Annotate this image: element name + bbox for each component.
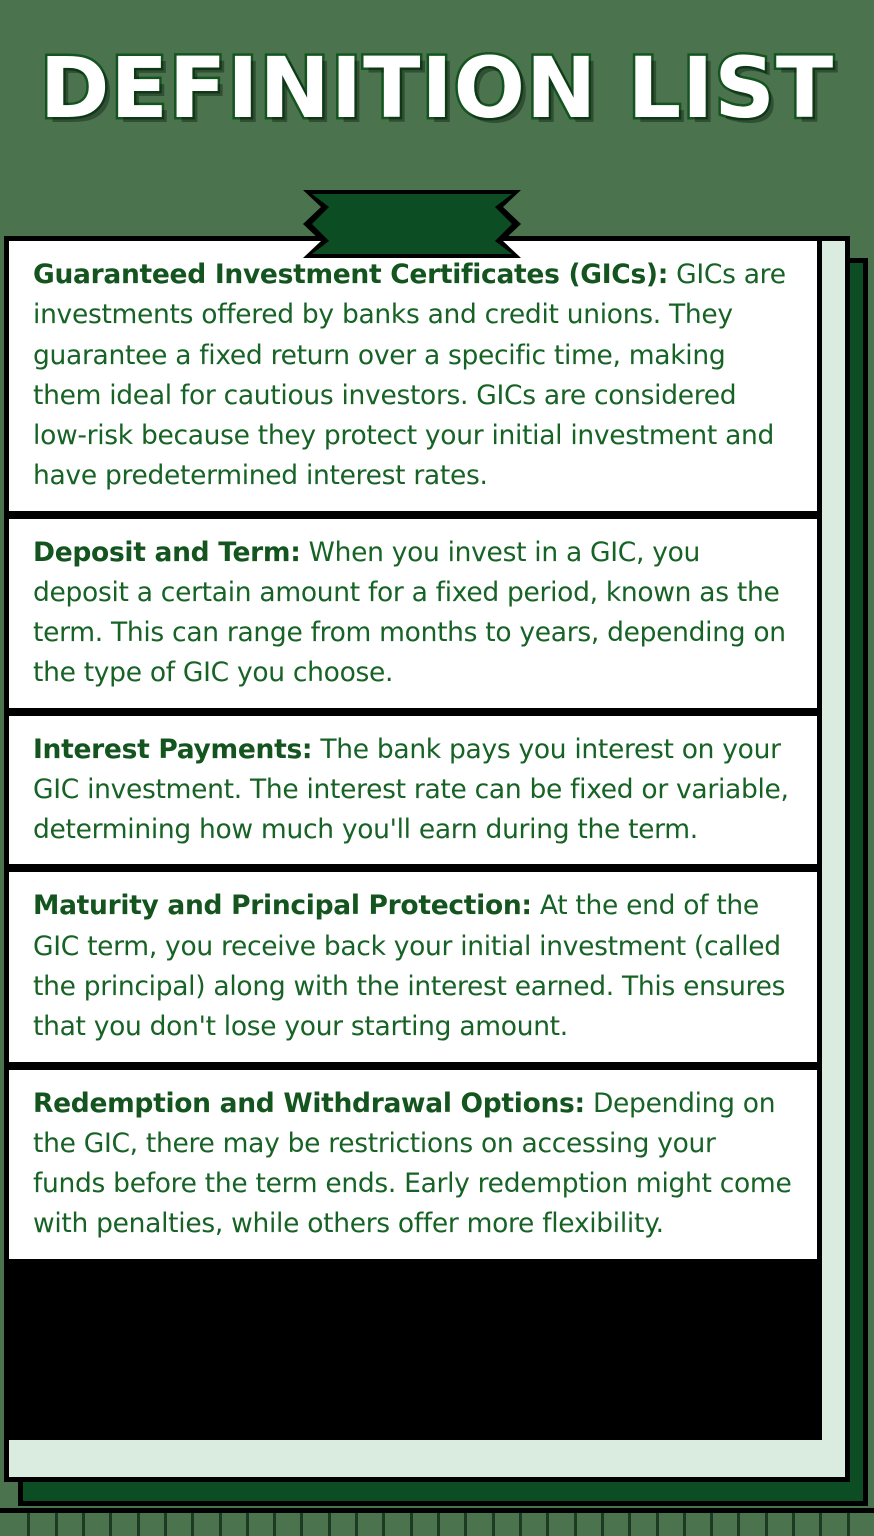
ruler-tick xyxy=(492,1513,495,1536)
definition-term: Maturity and Principal Protection: xyxy=(33,890,532,921)
ribbon-banner-icon xyxy=(303,190,521,258)
ruler-tick xyxy=(164,1513,167,1536)
title-banner: DEFINITION LIST xyxy=(0,0,874,176)
ruler-tick xyxy=(710,1513,713,1536)
ruler-tick xyxy=(328,1513,331,1536)
ruler-tick xyxy=(410,1513,413,1536)
definition-term: Interest Payments: xyxy=(33,734,312,765)
ruler-tick-strip xyxy=(0,1508,874,1536)
definition-text: Deposit and Term: When you invest in a G… xyxy=(33,533,795,694)
ruler-tick xyxy=(437,1513,440,1536)
ruler-tick xyxy=(55,1513,58,1536)
ruler-tick xyxy=(683,1513,686,1536)
ruler-tick xyxy=(382,1513,385,1536)
definition-term: Redemption and Withdrawal Options: xyxy=(33,1088,585,1119)
definition-text: Redemption and Withdrawal Options: Depen… xyxy=(33,1084,795,1245)
page-title: DEFINITION LIST xyxy=(40,46,834,130)
ruler-tick xyxy=(601,1513,604,1536)
definition-text: Interest Payments: The bank pays you int… xyxy=(33,730,795,851)
ruler-tick xyxy=(82,1513,85,1536)
list-item[interactable]: Redemption and Withdrawal Options: Depen… xyxy=(9,1070,817,1259)
ruler-tick xyxy=(191,1513,194,1536)
ruler-tick xyxy=(546,1513,549,1536)
ruler-tick xyxy=(628,1513,631,1536)
ruler-tick xyxy=(109,1513,112,1536)
definition-term: Deposit and Term: xyxy=(33,537,301,568)
ruler-tick xyxy=(355,1513,358,1536)
list-item[interactable]: Interest Payments: The bank pays you int… xyxy=(9,716,817,865)
definition-body: GICs are investments offered by banks an… xyxy=(33,259,786,491)
ruler-tick xyxy=(246,1513,249,1536)
ruler-tick xyxy=(847,1513,850,1536)
ruler-tick xyxy=(819,1513,822,1536)
list-item[interactable]: Guaranteed Investment Certificates (GICs… xyxy=(9,241,817,511)
ruler-tick xyxy=(137,1513,140,1536)
ruler-tick xyxy=(574,1513,577,1536)
ruler-tick xyxy=(464,1513,467,1536)
ruler-tick xyxy=(656,1513,659,1536)
ruler-tick xyxy=(219,1513,222,1536)
ruler-tick xyxy=(765,1513,768,1536)
definition-text: Maturity and Principal Protection: At th… xyxy=(33,886,795,1047)
ruler-tick xyxy=(300,1513,303,1536)
ruler-tick xyxy=(519,1513,522,1536)
definition-text: Guaranteed Investment Certificates (GICs… xyxy=(33,255,795,497)
definition-card-list: Guaranteed Investment Certificates (GICs… xyxy=(4,236,822,1440)
ruler-tick xyxy=(273,1513,276,1536)
definition-term: Guaranteed Investment Certificates (GICs… xyxy=(33,259,668,290)
ruler-tick xyxy=(27,1513,30,1536)
ruler-tick xyxy=(737,1513,740,1536)
ruler-tick xyxy=(792,1513,795,1536)
list-item[interactable]: Maturity and Principal Protection: At th… xyxy=(9,872,817,1061)
list-item[interactable]: Deposit and Term: When you invest in a G… xyxy=(9,519,817,708)
